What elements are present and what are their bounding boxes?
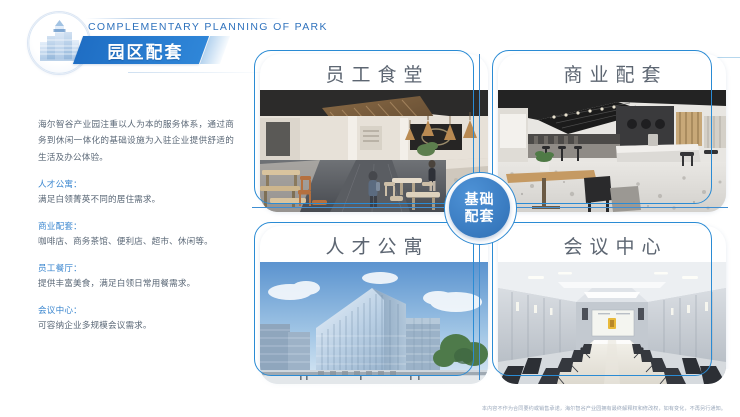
intro-paragraph: 海尔智谷产业园注重以人为本的服务体系，通过商务到休闲一体化的基础设施为入驻企业提… <box>38 116 234 165</box>
section-heading: 商业配套： <box>38 219 234 234</box>
section-body: 提供丰富美食，满足白领日常用餐需求。 <box>38 276 234 291</box>
card-title: 商业配套 <box>498 55 726 91</box>
section-body: 可容纳企业多规模会议需求。 <box>38 318 234 333</box>
card-commercial-amenities[interactable]: 商业配套 <box>492 50 724 212</box>
header-top-rule <box>86 18 282 19</box>
section-heading: 会议中心： <box>38 303 234 318</box>
section-conference: 会议中心： 可容纳企业多规模会议需求。 <box>38 303 234 333</box>
conference-center-photo <box>498 262 726 384</box>
center-badge-line1: 基础 <box>465 191 495 208</box>
center-badge-line2: 配套 <box>465 208 495 225</box>
section-body: 咖啡店、商务茶馆、便利店、超市、休闲等。 <box>38 234 234 249</box>
card-conference-center[interactable]: 会议中心 <box>492 222 724 384</box>
talent-apartment-photo <box>260 262 488 384</box>
section-heading: 人才公寓： <box>38 177 234 192</box>
card-title: 员工食堂 <box>260 55 488 91</box>
section-talent-apartment: 人才公寓： 满足白领菁英不同的居住需求。 <box>38 177 234 207</box>
card-title: 会议中心 <box>498 227 726 263</box>
disclaimer-text: 本内容不作为合同要约或销售承诺，海尔智谷产业园拥有最终解释权和修改权，如有变化，… <box>482 405 726 412</box>
english-title: COMPLEMENTARY PLANNING OF PARK <box>88 21 328 33</box>
card-talent-apartment[interactable]: 人才公寓 <box>254 222 486 384</box>
section-body: 满足白领菁英不同的居住需求。 <box>38 192 234 207</box>
slide-canvas: COMPLEMENTARY PLANNING OF PARK 园区配套 海尔智谷… <box>0 0 740 417</box>
center-badge: 基础 配套 <box>449 177 510 238</box>
commercial-amenities-photo <box>498 90 726 212</box>
section-heading: 员工餐厅： <box>38 261 234 276</box>
left-text-panel: 海尔智谷产业园注重以人为本的服务体系，通过商务到休闲一体化的基础设施为入驻企业提… <box>38 116 234 333</box>
section-canteen: 员工餐厅： 提供丰富美食，满足白领日常用餐需求。 <box>38 261 234 291</box>
page-title: 园区配套 <box>88 38 203 62</box>
section-commercial: 商业配套： 咖啡店、商务茶馆、便利店、超市、休闲等。 <box>38 219 234 249</box>
